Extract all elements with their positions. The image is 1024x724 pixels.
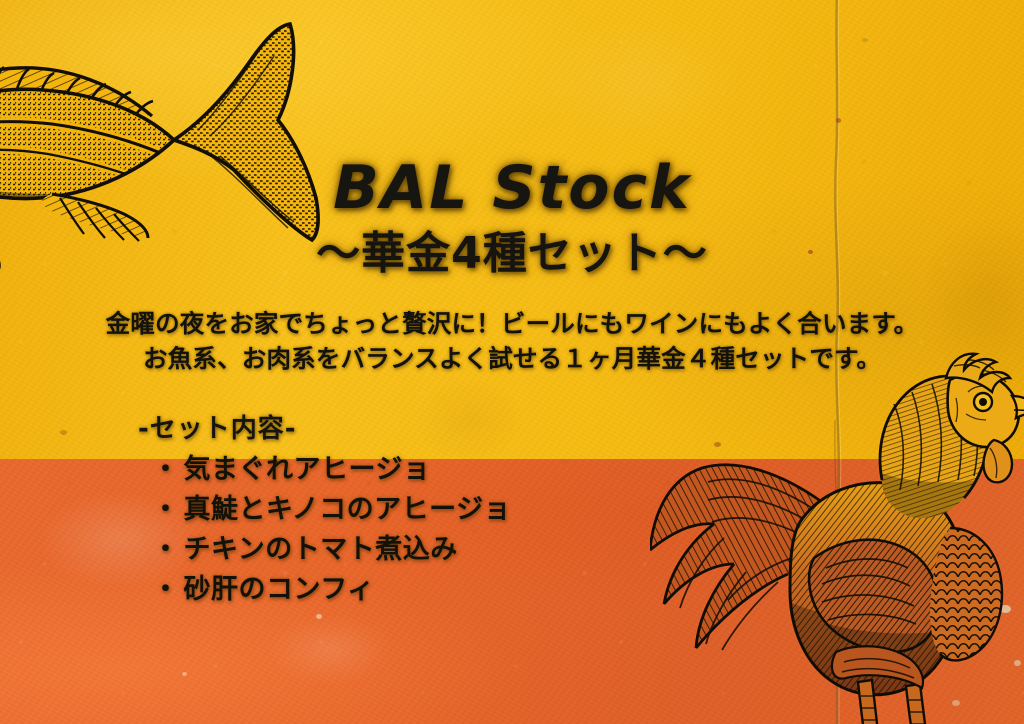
list-item: ・チキンのトマト煮込み xyxy=(152,535,511,564)
poster-lead-paragraph: 金曜の夜をお家でちょっと贅沢に！ビールにもワインにもよく合います。 お魚系、お肉… xyxy=(0,307,1024,377)
set-contents-heading: -セット内容- xyxy=(138,408,511,445)
bullet-glyph: ・ xyxy=(152,534,180,565)
list-item: ・真鯐とキノコのアヒージョ xyxy=(152,495,511,524)
list-item: ・砂肝のコンフィ xyxy=(152,575,511,604)
bullet-glyph: ・ xyxy=(152,574,180,605)
poster-canvas: BAL Stock 〜華金4種セット〜 金曜の夜をお家でちょっと贅沢に！ビールに… xyxy=(0,0,1024,724)
lead-line-1: 金曜の夜をお家でちょっと贅沢に！ビールにもワインにもよく合います。 xyxy=(0,307,1024,342)
poster-title: BAL Stock xyxy=(0,158,1024,218)
set-contents-block: -セット内容- ・気まぐれアヒージョ ・真鯐とキノコのアヒージョ ・チキンのトマ… xyxy=(138,408,511,616)
list-item-label: 真鯐とキノコのアヒージョ xyxy=(184,494,512,525)
bullet-glyph: ・ xyxy=(152,494,180,525)
list-item-label: 気まぐれアヒージョ xyxy=(184,454,431,485)
poster-subtitle: 〜華金4種セット〜 xyxy=(0,232,1024,276)
lead-line-2: お魚系、お肉系をバランスよく試せる１ヶ月華金４種セットです。 xyxy=(0,342,1024,377)
list-item: ・気まぐれアヒージョ xyxy=(152,455,511,484)
list-item-label: 砂肝のコンフィ xyxy=(184,574,375,605)
bullet-glyph: ・ xyxy=(152,454,180,485)
list-item-label: チキンのトマト煮込み xyxy=(184,534,458,565)
